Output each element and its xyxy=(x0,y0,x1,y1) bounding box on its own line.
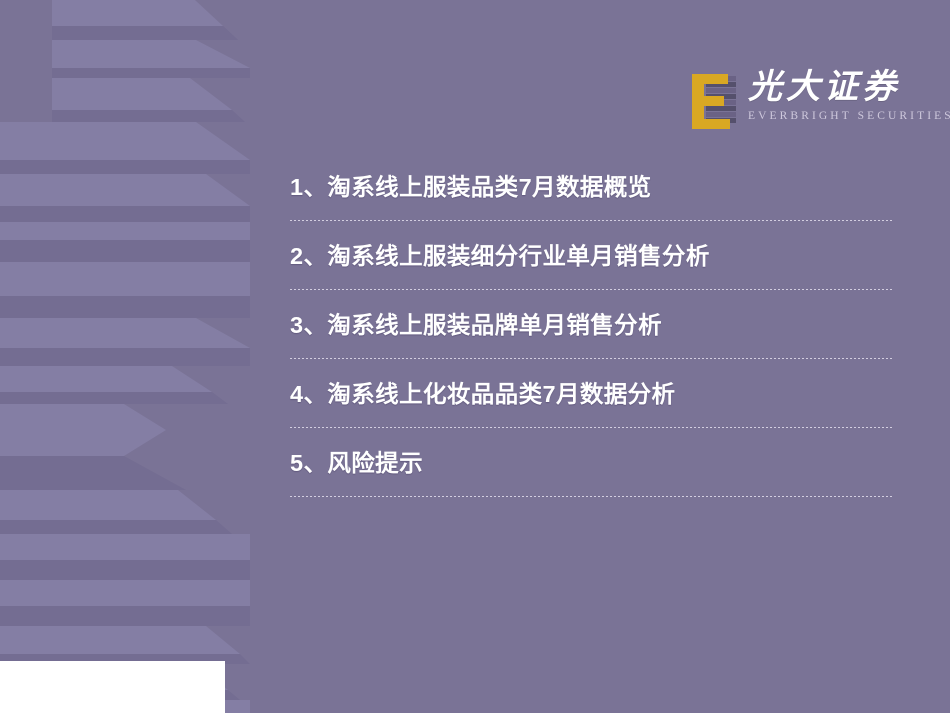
striped-e-watermark xyxy=(0,0,250,713)
agenda-item-3[interactable]: 3、淘系线上服装品牌单月销售分析 xyxy=(290,290,894,359)
agenda-item-5[interactable]: 5、风险提示 xyxy=(290,428,894,497)
presentation-slide: 光大证券 EVERBRIGHT SECURITIES 1、淘系线上服装品类7月数… xyxy=(0,0,950,713)
agenda-item-4-label: 4、淘系线上化妆品品类7月数据分析 xyxy=(290,375,675,409)
agenda-item-4[interactable]: 4、淘系线上化妆品品类7月数据分析 xyxy=(290,359,894,428)
agenda-item-1[interactable]: 1、淘系线上服装品类7月数据概览 xyxy=(290,152,894,221)
agenda-list: 1、淘系线上服装品类7月数据概览 2、淘系线上服装细分行业单月销售分析 3、淘系… xyxy=(290,152,894,497)
everbright-e-mark-icon xyxy=(686,71,738,131)
corner-block xyxy=(0,661,225,713)
agenda-divider-5 xyxy=(290,496,894,497)
agenda-item-1-label: 1、淘系线上服装品类7月数据概览 xyxy=(290,168,652,202)
logo-chinese-name: 光大证券 xyxy=(748,70,950,107)
agenda-item-5-label: 5、风险提示 xyxy=(290,444,423,478)
agenda-item-2[interactable]: 2、淘系线上服装细分行业单月销售分析 xyxy=(290,221,894,290)
agenda-item-3-label: 3、淘系线上服装品牌单月销售分析 xyxy=(290,306,662,340)
company-logo: 光大证券 EVERBRIGHT SECURITIES xyxy=(686,70,891,138)
logo-wordmark: 光大证券 EVERBRIGHT SECURITIES xyxy=(748,70,950,122)
logo-english-name: EVERBRIGHT SECURITIES xyxy=(748,110,950,123)
agenda-item-2-label: 2、淘系线上服装细分行业单月销售分析 xyxy=(290,237,710,271)
